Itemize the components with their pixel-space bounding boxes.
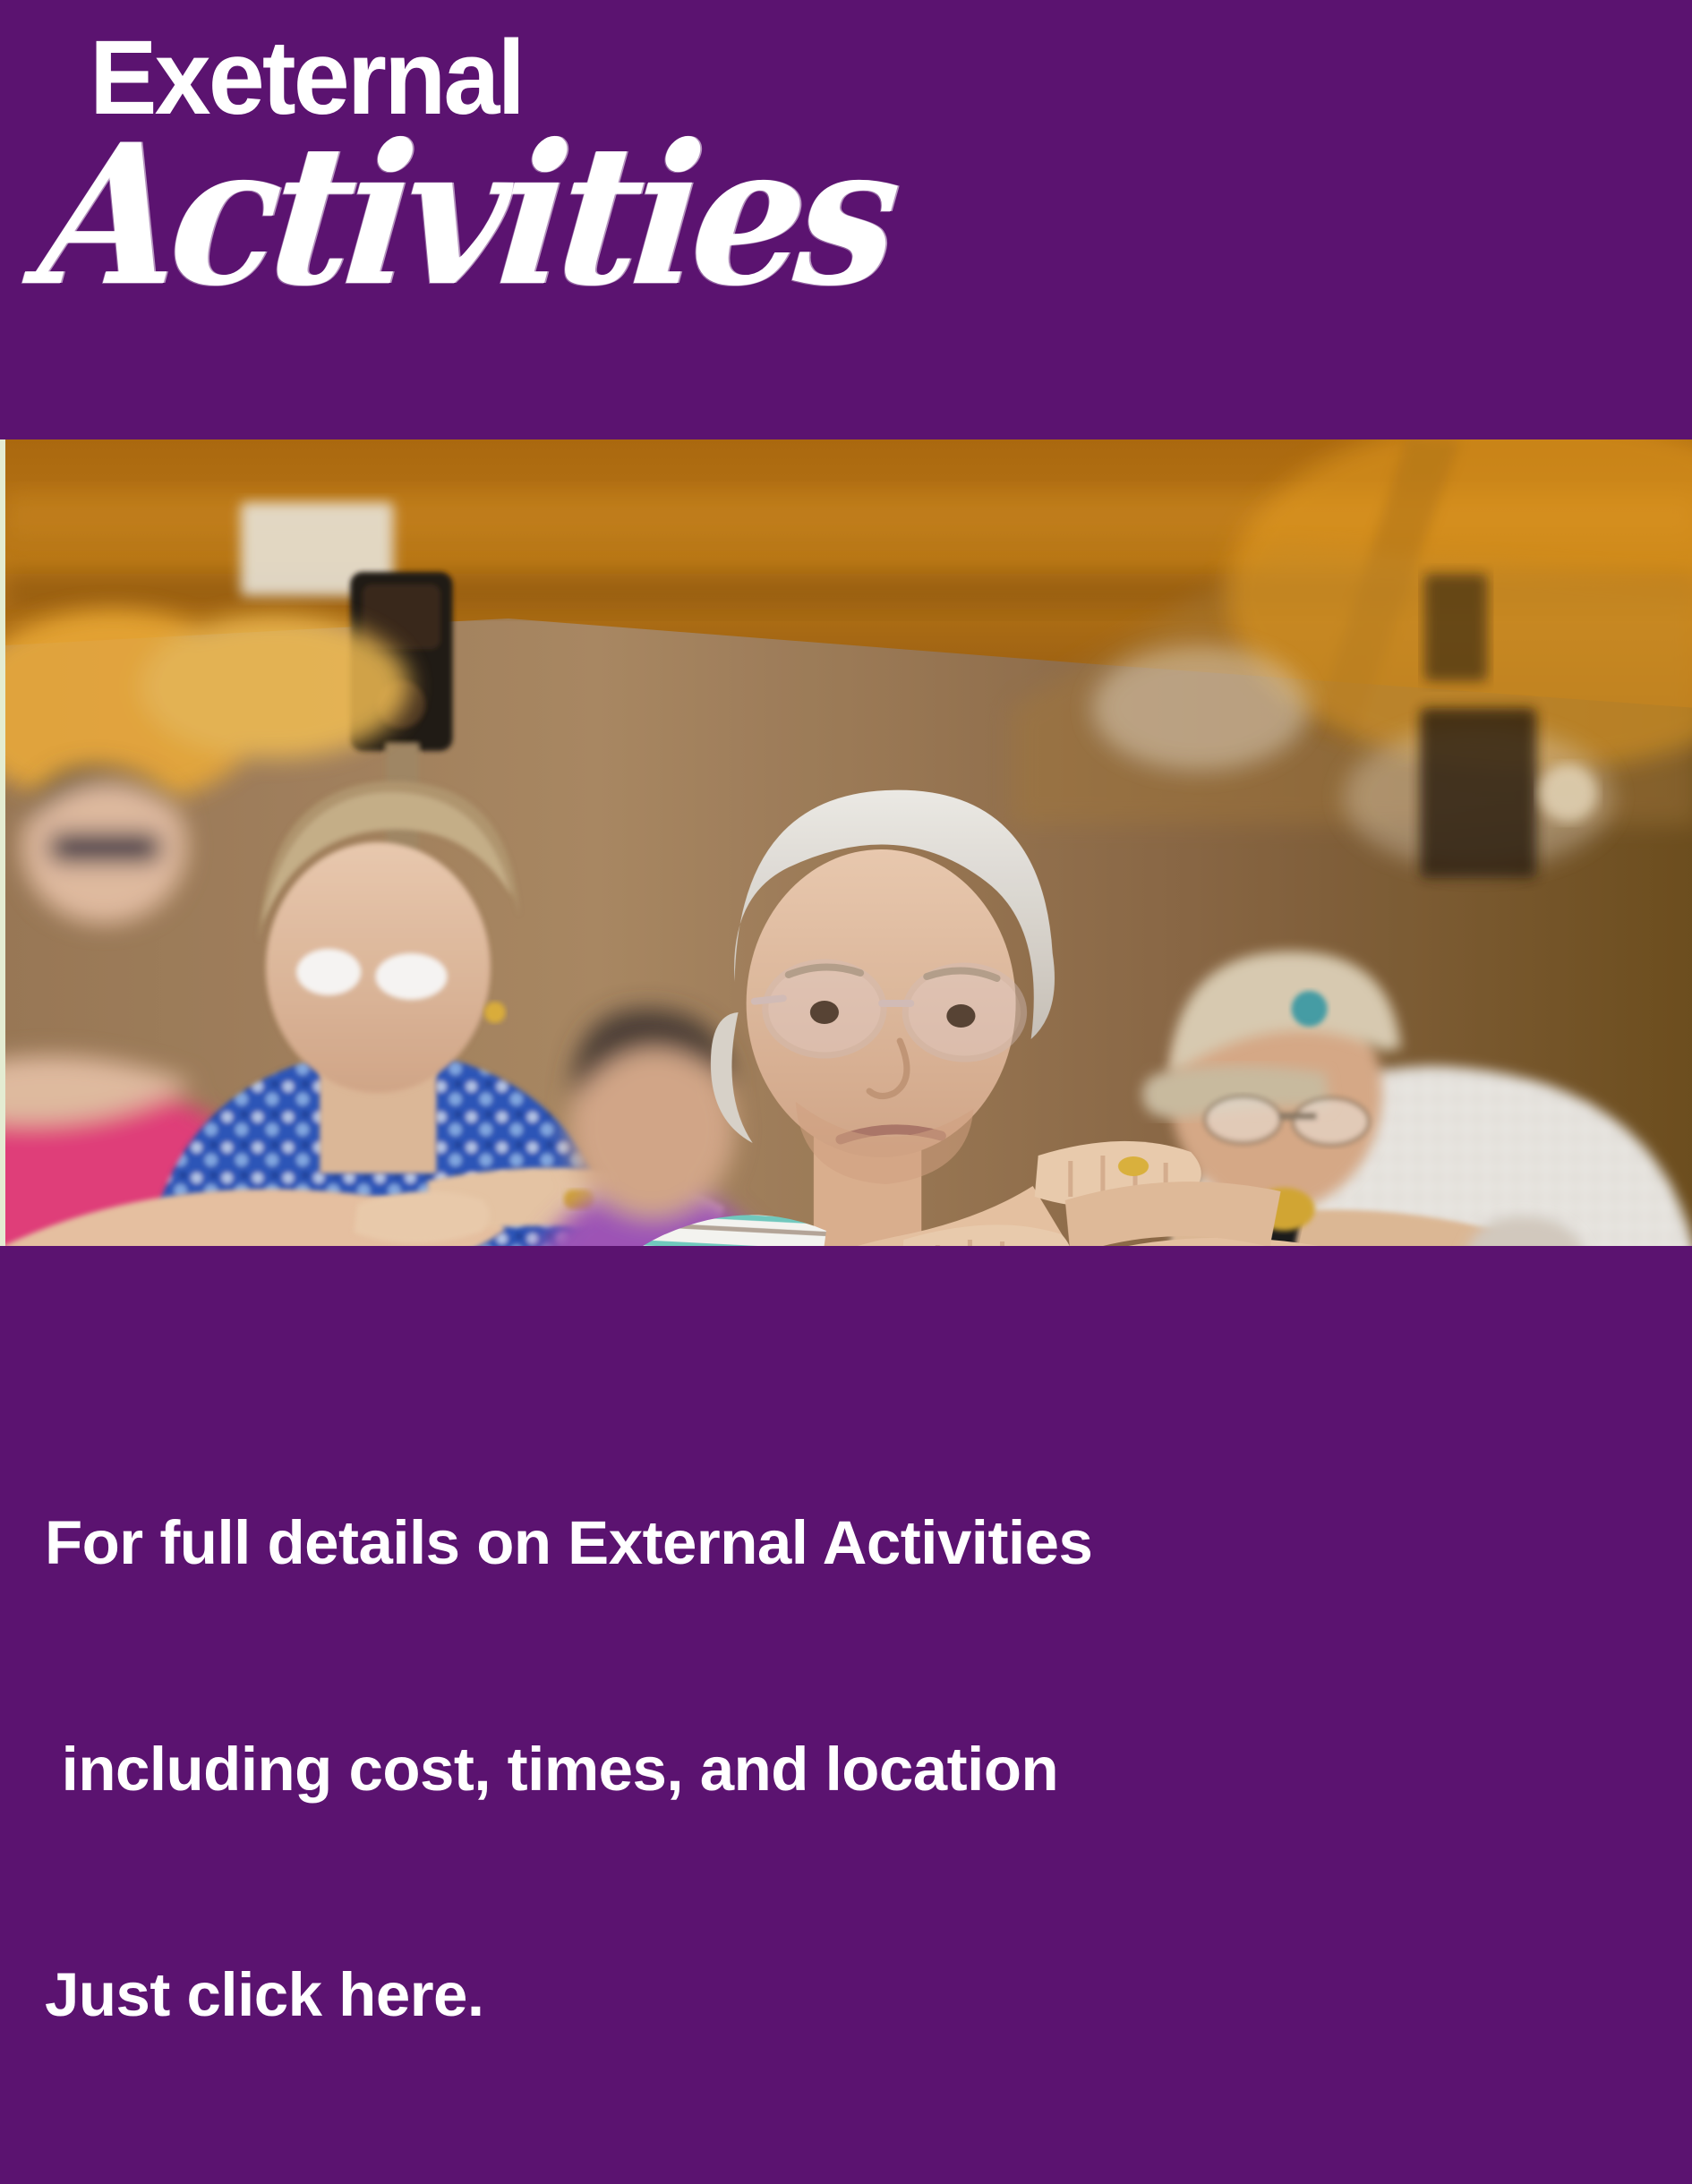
hero-photo [0,439,1692,1246]
cta-line-3[interactable]: Just click here. [45,1958,1092,2033]
cta-text-block: For full details on External Activities … [45,1355,1092,2184]
poster-root: Exeternal Activities [0,0,1692,1692]
header-banner: Exeternal Activities [0,0,1692,439]
footer-banner: For full details on External Activities … [0,1246,1692,1692]
cta-line-1: For full details on External Activities [45,1506,1092,1581]
cta-line-2: including cost, times, and location [45,1732,1092,1807]
page-title-script: Activities [33,118,900,311]
chair-exercise-class-illustration [5,439,1692,1246]
